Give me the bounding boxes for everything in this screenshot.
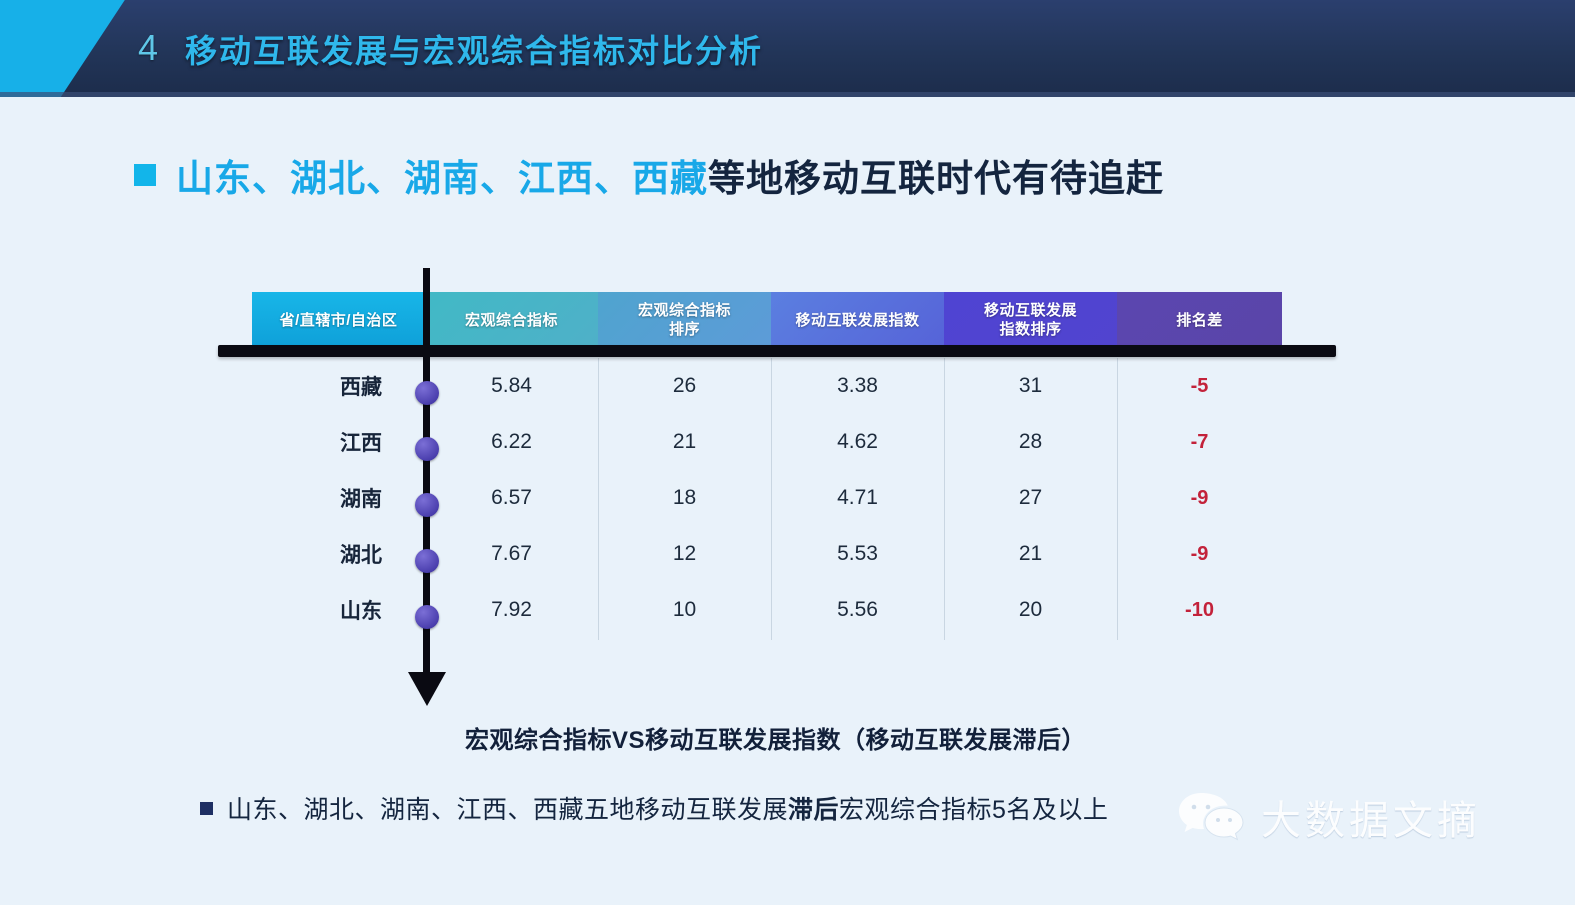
table-body: 西藏 5.84 26 3.38 31 -5 江西 6.22 21 4.62 28… xyxy=(252,358,1282,638)
footnote-part1: 山东、湖北、湖南、江西、西藏五地移动互联发展 xyxy=(227,796,788,824)
page-title: 移动互联发展与宏观综合指标对比分析 xyxy=(185,26,763,72)
cyan-wedge-decoration xyxy=(0,0,160,97)
table-row: 湖北 7.67 12 5.53 21 -9 xyxy=(252,526,1282,582)
downward-arrow-head-icon xyxy=(408,672,446,706)
header-divider-rule xyxy=(218,345,1336,357)
subtitle-rest: 等地移动互联时代有待追赶 xyxy=(708,158,1164,199)
cell-mobile-index: 4.71 xyxy=(771,486,944,510)
watermark: 大数据文摘 xyxy=(1175,788,1481,846)
cell-province: 湖北 xyxy=(252,539,425,569)
square-bullet-icon xyxy=(134,164,156,186)
footnote: 山东、湖北、湖南、江西、西藏五地移动互联发展滞后宏观综合指标5名及以上 xyxy=(200,790,1108,826)
column-separator xyxy=(944,358,945,640)
column-separator xyxy=(598,358,599,640)
cell-rank-diff: -9 xyxy=(1117,543,1282,566)
comparison-table: 省/直辖市/自治区 宏观综合指标 宏观综合指标 排序 移动互联发展指数 移动互联… xyxy=(252,292,1282,638)
cell-rank-diff: -10 xyxy=(1117,599,1282,622)
cell-province: 山东 xyxy=(252,595,425,625)
timeline-dot xyxy=(415,605,439,629)
cell-macro-rank: 12 xyxy=(598,542,771,566)
cell-macro-rank: 21 xyxy=(598,430,771,454)
timeline-dot xyxy=(415,493,439,517)
subtitle-highlight: 山东、湖北、湖南、江西、西藏 xyxy=(176,158,708,199)
column-separator xyxy=(1117,358,1118,640)
slide-number: 4 xyxy=(138,27,159,69)
cell-macro-index: 6.57 xyxy=(425,486,598,510)
cell-macro-index: 5.84 xyxy=(425,374,598,398)
cell-province: 湖南 xyxy=(252,483,425,513)
table-header-row: 省/直辖市/自治区 宏观综合指标 宏观综合指标 排序 移动互联发展指数 移动互联… xyxy=(252,292,1282,350)
table-row: 江西 6.22 21 4.62 28 -7 xyxy=(252,414,1282,470)
cell-rank-diff: -9 xyxy=(1117,487,1282,510)
cell-rank-diff: -5 xyxy=(1117,375,1282,398)
subtitle: 山东、湖北、湖南、江西、西藏等地移动互联时代有待追赶 xyxy=(134,148,1164,202)
watermark-text: 大数据文摘 xyxy=(1261,788,1481,846)
cell-mobile-rank: 27 xyxy=(944,486,1117,510)
cell-mobile-rank: 31 xyxy=(944,374,1117,398)
table-row: 湖南 6.57 18 4.71 27 -9 xyxy=(252,470,1282,526)
cell-province: 西藏 xyxy=(252,371,425,401)
cell-mobile-index: 5.56 xyxy=(771,598,944,622)
wechat-icon xyxy=(1175,789,1247,845)
cell-macro-index: 6.22 xyxy=(425,430,598,454)
chart-caption-text: 宏观综合指标VS移动互联发展指数（移动互联发展滞后） xyxy=(465,720,1086,755)
footnote-part2: 宏观综合指标5名及以上 xyxy=(839,796,1108,824)
table-row: 山东 7.92 10 5.56 20 -10 xyxy=(252,582,1282,638)
title-bar-underline xyxy=(0,92,1575,97)
cell-macro-rank: 26 xyxy=(598,374,771,398)
cell-macro-index: 7.92 xyxy=(425,598,598,622)
cell-macro-rank: 18 xyxy=(598,486,771,510)
chart-caption: 宏观综合指标VS移动互联发展指数（移动互联发展滞后） xyxy=(0,720,1575,755)
footnote-text: 山东、湖北、湖南、江西、西藏五地移动互联发展滞后宏观综合指标5名及以上 xyxy=(227,790,1108,826)
cell-mobile-rank: 28 xyxy=(944,430,1117,454)
table-row: 西藏 5.84 26 3.38 31 -5 xyxy=(252,358,1282,414)
cell-macro-index: 7.67 xyxy=(425,542,598,566)
subtitle-text: 山东、湖北、湖南、江西、西藏等地移动互联时代有待追赶 xyxy=(176,148,1164,202)
footnote-bold: 滞后 xyxy=(788,796,839,824)
cell-mobile-rank: 20 xyxy=(944,598,1117,622)
cell-province: 江西 xyxy=(252,427,425,457)
cell-mobile-index: 4.62 xyxy=(771,430,944,454)
cell-rank-diff: -7 xyxy=(1117,431,1282,454)
cell-mobile-rank: 21 xyxy=(944,542,1117,566)
column-separator xyxy=(771,358,772,640)
column-header-mobile-index: 移动互联发展指数 xyxy=(771,292,944,350)
column-header-mobile-rank: 移动互联发展 指数排序 xyxy=(944,292,1117,350)
column-header-rank-diff: 排名差 xyxy=(1117,292,1282,350)
timeline-dot xyxy=(415,381,439,405)
square-bullet-icon xyxy=(200,802,213,815)
column-header-macro-rank: 宏观综合指标 排序 xyxy=(598,292,771,350)
cell-macro-rank: 10 xyxy=(598,598,771,622)
cell-mobile-index: 5.53 xyxy=(771,542,944,566)
cell-mobile-index: 3.38 xyxy=(771,374,944,398)
timeline-dot xyxy=(415,549,439,573)
column-header-province: 省/直辖市/自治区 xyxy=(252,292,425,350)
column-header-macro-index: 宏观综合指标 xyxy=(425,292,598,350)
timeline-dot xyxy=(415,437,439,461)
